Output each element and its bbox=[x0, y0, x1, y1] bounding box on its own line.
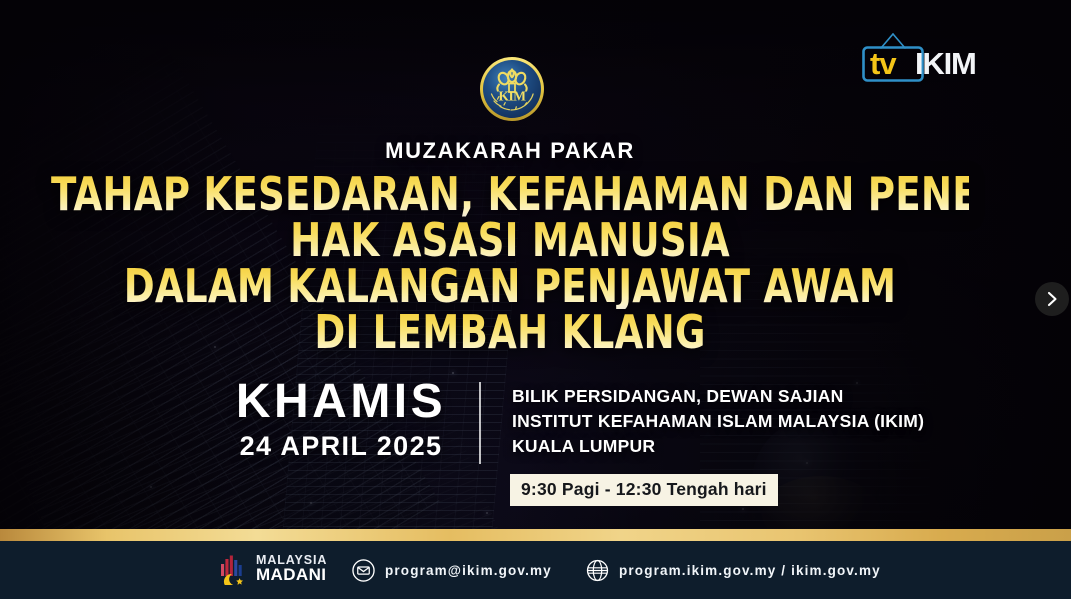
globe-icon bbox=[586, 559, 609, 582]
footer-email[interactable]: program@ikim.gov.my bbox=[352, 541, 552, 599]
event-date-block: KHAMIS 24 APRIL 2025 bbox=[196, 378, 486, 462]
headline-line-2: HAK ASASI MANUSIA bbox=[51, 218, 969, 263]
tvikim-logo: tv IKIM bbox=[862, 30, 1017, 82]
footer-website-text: program.ikim.gov.my / ikim.gov.my bbox=[619, 563, 881, 578]
chevron-right-icon bbox=[1046, 291, 1059, 307]
ikim-logo: KIM bbox=[479, 56, 545, 122]
madani-wordmark: MALAYSIA MADANI bbox=[256, 554, 327, 583]
poster-headline: TAHAP KESEDARAN, KEFAHAMAN DAN PENERIMAA… bbox=[0, 172, 1020, 355]
madani-emblem-icon bbox=[218, 553, 248, 585]
svg-text:KIM: KIM bbox=[499, 88, 527, 103]
madani-line-2: MADANI bbox=[256, 566, 327, 583]
poster-footer: MALAYSIA MADANI program@ikim.gov.my bbox=[0, 541, 1071, 599]
headline-line-4: DI LEMBAH KLANG bbox=[51, 310, 969, 355]
carousel-next-button[interactable] bbox=[1035, 282, 1069, 316]
headline-line-1: TAHAP KESEDARAN, KEFAHAMAN DAN PENERIMAA… bbox=[51, 172, 969, 217]
venue-line-2: INSTITUT KEFAHAMAN ISLAM MALAYSIA (IKIM) bbox=[512, 409, 982, 434]
poster-content: KIM bbox=[0, 0, 1071, 599]
event-date: 24 APRIL 2025 bbox=[196, 431, 486, 462]
event-venue-block: BILIK PERSIDANGAN, DEWAN SAJIAN INSTITUT… bbox=[512, 384, 982, 459]
malaysia-madani-logo: MALAYSIA MADANI bbox=[218, 553, 327, 585]
gold-separator-bar bbox=[0, 529, 1071, 541]
event-time-badge: 9:30 Pagi - 12:30 Tengah hari bbox=[510, 474, 778, 506]
event-poster: KIM bbox=[0, 0, 1071, 599]
envelope-icon bbox=[352, 559, 375, 582]
venue-line-1: BILIK PERSIDANGAN, DEWAN SAJIAN bbox=[512, 384, 982, 409]
svg-text:IKIM: IKIM bbox=[915, 46, 976, 81]
svg-text:tv: tv bbox=[870, 46, 897, 81]
poster-subtitle: MUZAKARAH PAKAR bbox=[0, 138, 1020, 164]
footer-website[interactable]: program.ikim.gov.my / ikim.gov.my bbox=[586, 541, 881, 599]
headline-line-3: DALAM KALANGAN PENJAWAT AWAM bbox=[51, 264, 969, 309]
venue-line-3: KUALA LUMPUR bbox=[512, 434, 982, 459]
vertical-divider bbox=[479, 382, 481, 464]
event-day: KHAMIS bbox=[196, 378, 486, 427]
footer-email-text: program@ikim.gov.my bbox=[385, 563, 552, 578]
